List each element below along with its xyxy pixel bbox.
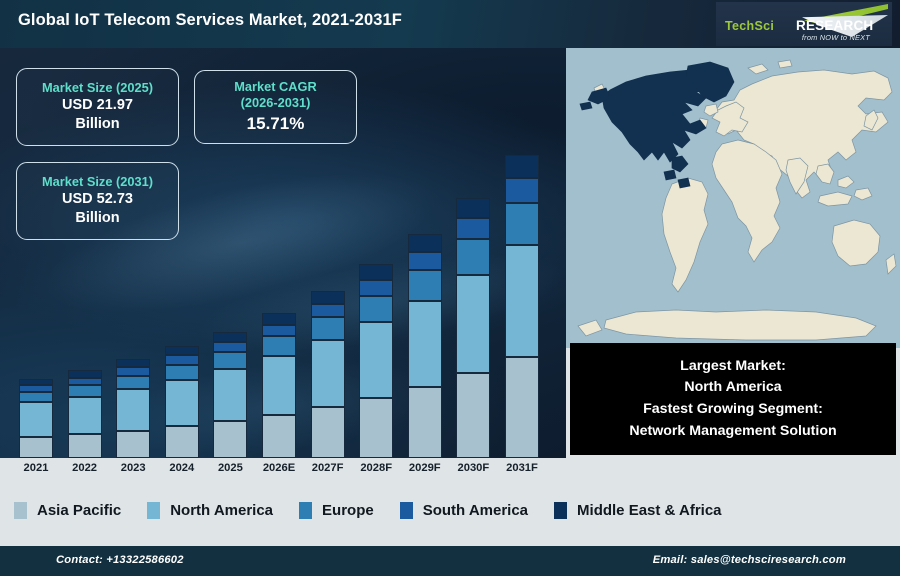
bar-segment-middle-east-africa: [262, 313, 296, 325]
legend-swatch-icon: [400, 502, 413, 519]
bar-segment-europe: [165, 365, 199, 380]
legend-item-asia-pacific[interactable]: Asia Pacific: [14, 502, 121, 519]
bar-segment-north-america: [359, 322, 393, 397]
bar-segment-south-america: [359, 280, 393, 296]
bar-2027F: [311, 291, 345, 458]
bar-2026E: [262, 313, 296, 458]
x-tick-2031F: 2031F: [497, 462, 547, 474]
x-tick-2030F: 2030F: [448, 462, 498, 474]
x-tick-2026E: 2026E: [254, 462, 304, 474]
x-tick-2029F: 2029F: [400, 462, 450, 474]
bar-2023: [116, 359, 150, 458]
bar-segment-europe: [213, 352, 247, 369]
legend-label: Middle East & Africa: [577, 502, 721, 519]
footer-email: Email: sales@techsciresearch.com: [653, 554, 846, 566]
bar-segment-south-america: [456, 218, 490, 239]
bar-segment-europe: [116, 376, 150, 390]
x-tick-2022: 2022: [60, 462, 110, 474]
legend-label: North America: [170, 502, 273, 519]
bar-segment-europe: [19, 392, 53, 403]
bar-segment-south-america: [165, 355, 199, 364]
x-tick-2023: 2023: [108, 462, 158, 474]
bar-segment-middle-east-africa: [311, 291, 345, 304]
bar-segment-middle-east-africa: [359, 264, 393, 280]
x-tick-2027F: 2027F: [303, 462, 353, 474]
footer-bar: Contact: +13322586602 Email: sales@techs…: [0, 546, 900, 576]
legend-swatch-icon: [147, 502, 160, 519]
bar-2022: [68, 370, 102, 458]
bar-segment-asia-pacific: [165, 426, 199, 458]
bar-segment-north-america: [116, 389, 150, 431]
bar-segment-asia-pacific: [68, 434, 102, 458]
legend-label: South America: [423, 502, 528, 519]
legend-swatch-icon: [554, 502, 567, 519]
bar-segment-europe: [311, 317, 345, 340]
legend-label: Europe: [322, 502, 374, 519]
bar-segment-asia-pacific: [359, 398, 393, 458]
x-tick-2028F: 2028F: [351, 462, 401, 474]
bar-segment-europe: [408, 270, 442, 301]
legend-item-europe[interactable]: Europe: [299, 502, 374, 519]
bar-2031F: [505, 155, 539, 458]
bar-segment-north-america: [456, 275, 490, 373]
stacked-bar-chart: [0, 48, 566, 458]
bar-segment-south-america: [311, 304, 345, 318]
bar-segment-south-america: [505, 178, 539, 202]
callout-line-fastest-segment-label: Fastest Growing Segment:: [570, 399, 896, 421]
x-axis-labels: 202120222023202420252026E2027F2028F2029F…: [0, 458, 566, 482]
bar-segment-asia-pacific: [311, 407, 345, 458]
techsci-research-logo: TechSci RESEARCH from NOW to NEXT: [716, 2, 892, 46]
infographic-page: Global IoT Telecom Services Market, 2021…: [0, 0, 900, 576]
bar-segment-europe: [505, 203, 539, 245]
bar-segment-north-america: [68, 397, 102, 435]
bar-segment-middle-east-africa: [68, 370, 102, 377]
header-bar: Global IoT Telecom Services Market, 2021…: [0, 0, 900, 48]
bar-segment-asia-pacific: [19, 437, 53, 458]
footer-contact: Contact: +13322586602: [56, 554, 184, 566]
bar-2021: [19, 379, 53, 458]
callout-line-largest-market-label: Largest Market:: [570, 356, 896, 378]
bar-segment-middle-east-africa: [408, 234, 442, 252]
bar-2024: [165, 346, 199, 458]
world-map-svg: [566, 48, 900, 348]
bar-2030F: [456, 198, 490, 458]
legend-swatch-icon: [299, 502, 312, 519]
chart-panel: Market Size (2025) USD 21.97 Billion Mar…: [0, 48, 566, 458]
legend-item-north-america[interactable]: North America: [147, 502, 273, 519]
bar-segment-north-america: [311, 340, 345, 407]
bar-segment-south-america: [408, 252, 442, 270]
legend-item-south-america[interactable]: South America: [400, 502, 528, 519]
bar-segment-middle-east-africa: [505, 155, 539, 178]
bar-segment-north-america: [19, 402, 53, 437]
bar-segment-europe: [68, 385, 102, 397]
bar-segment-south-america: [68, 378, 102, 385]
legend-label: Asia Pacific: [37, 502, 121, 519]
x-tick-2021: 2021: [11, 462, 61, 474]
bar-segment-europe: [262, 336, 296, 356]
bar-segment-europe: [456, 239, 490, 275]
logo-text-techsci: TechSci: [725, 19, 774, 33]
world-map: [566, 48, 900, 348]
bar-segment-asia-pacific: [505, 357, 539, 458]
page-title: Global IoT Telecom Services Market, 2021…: [18, 11, 402, 30]
bar-segment-middle-east-africa: [19, 379, 53, 386]
bar-segment-asia-pacific: [408, 387, 442, 458]
logo-tagline: from NOW to NEXT: [802, 33, 870, 42]
bar-segment-south-america: [262, 325, 296, 337]
legend-item-middle-east-africa[interactable]: Middle East & Africa: [554, 502, 721, 519]
callout-line-largest-market-value: North America: [570, 377, 896, 399]
bar-segment-north-america: [408, 301, 442, 387]
bar-segment-middle-east-africa: [165, 346, 199, 355]
bar-segment-asia-pacific: [262, 415, 296, 458]
callout-line-fastest-segment-value: Network Management Solution: [570, 421, 896, 443]
bar-segment-asia-pacific: [456, 373, 490, 458]
bar-segment-middle-east-africa: [213, 332, 247, 342]
bar-2029F: [408, 234, 442, 458]
bar-segment-middle-east-africa: [116, 359, 150, 367]
bar-2025: [213, 332, 247, 458]
legend-swatch-icon: [14, 502, 27, 519]
bar-segment-north-america: [505, 245, 539, 357]
chart-legend: Asia PacificNorth AmericaEuropeSouth Ame…: [0, 482, 900, 538]
bar-segment-north-america: [213, 369, 247, 421]
bar-segment-asia-pacific: [213, 421, 247, 458]
x-tick-2025: 2025: [205, 462, 255, 474]
bar-segment-europe: [359, 296, 393, 323]
bar-segment-north-america: [165, 380, 199, 427]
x-tick-2024: 2024: [157, 462, 207, 474]
bar-segment-north-america: [262, 356, 296, 415]
bar-segment-south-america: [213, 342, 247, 352]
bar-2028F: [359, 264, 393, 458]
key-findings-callout: Largest Market: North America Fastest Gr…: [570, 343, 896, 455]
bar-segment-south-america: [116, 367, 150, 375]
logo-text-research: RESEARCH: [796, 18, 873, 33]
bar-segment-asia-pacific: [116, 431, 150, 458]
bar-segment-middle-east-africa: [456, 198, 490, 218]
